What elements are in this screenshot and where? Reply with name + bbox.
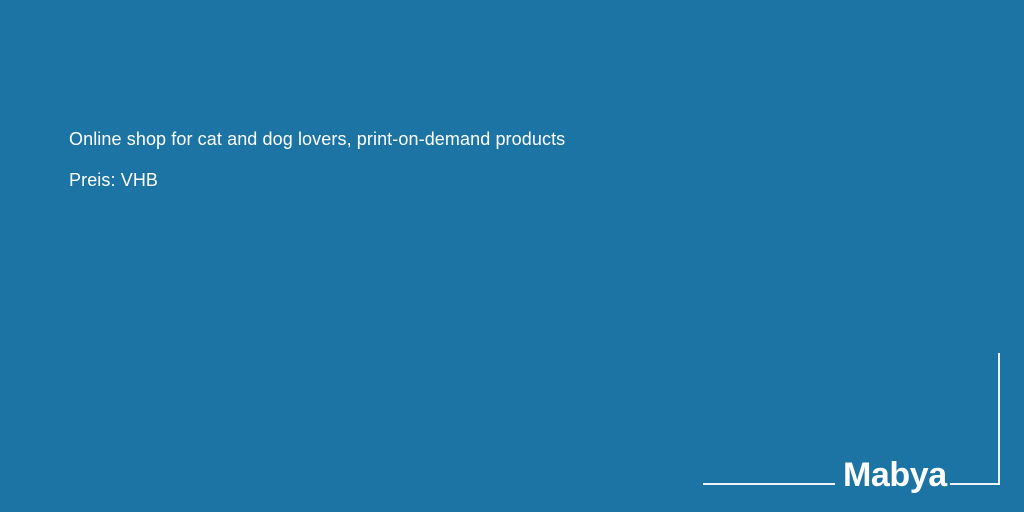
slide-description-text: Online shop for cat and dog lovers, prin… bbox=[69, 119, 809, 160]
logo-rule-right bbox=[950, 483, 1000, 485]
slide-price-text: Preis: VHB bbox=[69, 160, 809, 201]
slide-canvas: Online shop for cat and dog lovers, prin… bbox=[0, 0, 1024, 512]
mabya-wordmark: Mabya bbox=[843, 458, 947, 492]
mabya-logo-lockup: Mabya bbox=[700, 350, 1002, 502]
slide-copy-block: Online shop for cat and dog lovers, prin… bbox=[69, 119, 809, 201]
logo-rule-left bbox=[703, 483, 835, 485]
logo-rule-vertical bbox=[998, 353, 1000, 485]
